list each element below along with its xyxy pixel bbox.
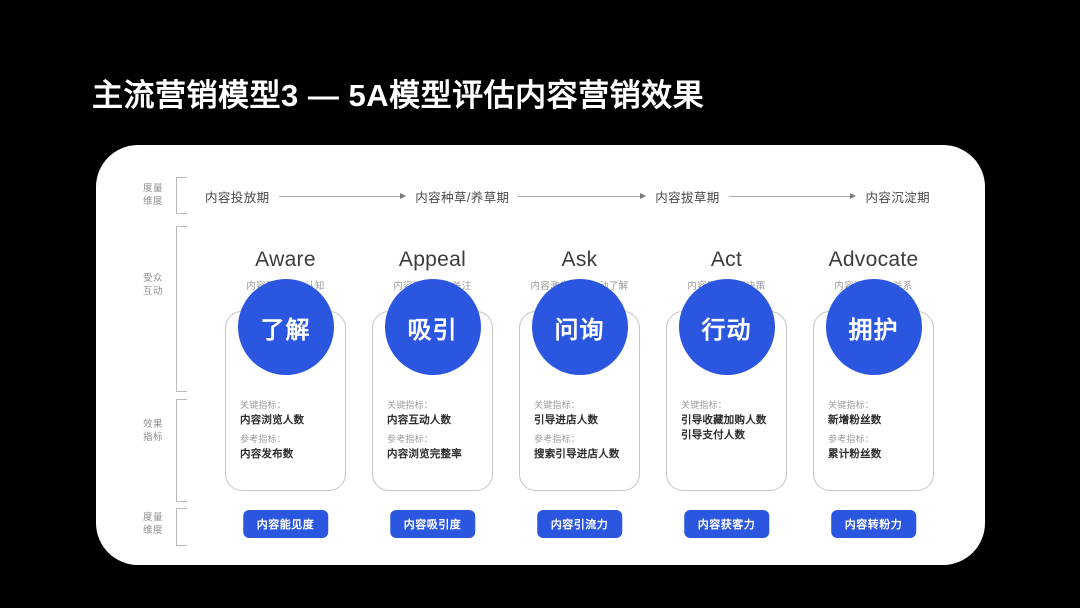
stage-circle-badge: 行动 [679,279,775,375]
stage-title: Aware [213,248,358,272]
page-title: 主流营销模型3 — 5A模型评估内容营销效果 [92,70,704,115]
ref-metric-value: 内容浏览完整率 [387,447,484,462]
axis-label-audience: 受众 互动 [130,272,176,298]
stage-metrics: 关键指标： 引导进店人数 参考指标： 搜索引导进店人数 [534,398,631,462]
timeline-item-3: 内容沉淀期 [865,187,930,206]
stage-column-act: Act 内容影响购买决策 行动 关键指标： 引导收藏加购人数 引导支付人数 内容… [654,248,799,292]
stage-circle-badge: 问询 [532,279,628,375]
key-metric-label: 关键指标： [681,398,778,413]
axis-label-line2: 维度 [130,524,176,537]
timeline-arrow-icon [729,192,857,201]
stage-title: Ask [507,248,652,272]
key-metric-value-2: 引导支付人数 [681,428,778,443]
axis-label-line1: 度量 [130,182,176,195]
ref-metric-label: 参考指标： [387,432,484,447]
axis-label-measure-top: 度量 维度 [130,182,176,208]
key-metric-label: 关键指标： [828,398,925,413]
timeline-item-1: 内容种草/养草期 [415,187,509,206]
stage-pill-badge[interactable]: 内容能见度 [243,510,329,538]
bracket-measure-top [176,177,187,214]
stage-circle-badge: 了解 [238,279,334,375]
key-metric-label: 关键指标： [240,398,337,413]
stage-card: 了解 关键指标： 内容浏览人数 参考指标： 内容发布数 [225,311,346,491]
key-metric-label: 关键指标： [534,398,631,413]
axis-label-line2: 指标 [130,431,176,444]
axis-label-measure-bottom: 度量 维度 [130,511,176,537]
ref-metric-label: 参考指标： [828,432,925,447]
stage-column-aware: Aware 内容影响受众认知 了解 关键指标： 内容浏览人数 参考指标： 内容发… [213,248,358,292]
stage-column-ask: Ask 内容激发受众主动了解 问询 关键指标： 引导进店人数 参考指标： 搜索引… [507,248,652,292]
axis-label-line1: 效果 [130,418,176,431]
timeline: 内容投放期 内容种草/养草期 内容拔草期 内容沉淀期 [205,182,930,210]
stage-circle-badge: 拥护 [826,279,922,375]
key-metric-value: 新增粉丝数 [828,413,925,428]
stage-card: 拥护 关键指标： 新增粉丝数 参考指标： 累计粉丝数 [813,311,934,491]
ref-metric-value: 搜索引导进店人数 [534,447,631,462]
bracket-audience [176,226,187,392]
key-metric-value: 引导进店人数 [534,413,631,428]
stage-circle-badge: 吸引 [385,279,481,375]
axis-label-line1: 度量 [130,511,176,524]
key-metric-value: 引导收藏加购人数 [681,413,778,428]
stage-card: 问询 关键指标： 引导进店人数 参考指标： 搜索引导进店人数 [519,311,640,491]
timeline-arrow-icon [279,192,407,201]
ref-metric-value: 累计粉丝数 [828,447,925,462]
stage-title: Act [654,248,799,272]
bracket-measure-bottom [176,508,187,546]
ref-metric-label: 参考指标： [240,432,337,447]
key-metric-label: 关键指标： [387,398,484,413]
stage-column-appeal: Appeal 内容吸引受众关注 吸引 关键指标： 内容互动人数 参考指标： 内容… [360,248,505,292]
axis-label-line1: 受众 [130,272,176,285]
stage-column-advocate: Advocate 内容沉淀客户关系 拥护 关键指标： 新增粉丝数 参考指标： 累… [801,248,946,292]
axis-label-line2: 互动 [130,285,176,298]
timeline-item-2: 内容拔草期 [655,187,720,206]
stage-metrics: 关键指标： 引导收藏加购人数 引导支付人数 [681,398,778,443]
stage-pill-badge[interactable]: 内容吸引度 [390,510,476,538]
ref-metric-label: 参考指标： [534,432,631,447]
axis-label-effect: 效果 指标 [130,418,176,444]
stage-metrics: 关键指标： 新增粉丝数 参考指标： 累计粉丝数 [828,398,925,462]
bracket-effect [176,399,187,502]
ref-metric-value: 内容发布数 [240,447,337,462]
stage-pill-badge[interactable]: 内容转粉力 [831,510,917,538]
stage-pill-badge[interactable]: 内容引流力 [537,510,623,538]
stage-metrics: 关键指标： 内容浏览人数 参考指标： 内容发布数 [240,398,337,462]
key-metric-value: 内容浏览人数 [240,413,337,428]
axis-label-line2: 维度 [130,195,176,208]
stage-pill-badge[interactable]: 内容获客力 [684,510,770,538]
stage-card: 行动 关键指标： 引导收藏加购人数 引导支付人数 [666,311,787,491]
timeline-item-0: 内容投放期 [205,187,270,206]
timeline-arrow-icon [518,192,646,201]
stage-columns: Aware 内容影响受众认知 了解 关键指标： 内容浏览人数 参考指标： 内容发… [205,248,965,548]
key-metric-value: 内容互动人数 [387,413,484,428]
stage-card: 吸引 关键指标： 内容互动人数 参考指标： 内容浏览完整率 [372,311,493,491]
stage-title: Advocate [801,248,946,272]
stage-metrics: 关键指标： 内容互动人数 参考指标： 内容浏览完整率 [387,398,484,462]
stage-title: Appeal [360,248,505,272]
